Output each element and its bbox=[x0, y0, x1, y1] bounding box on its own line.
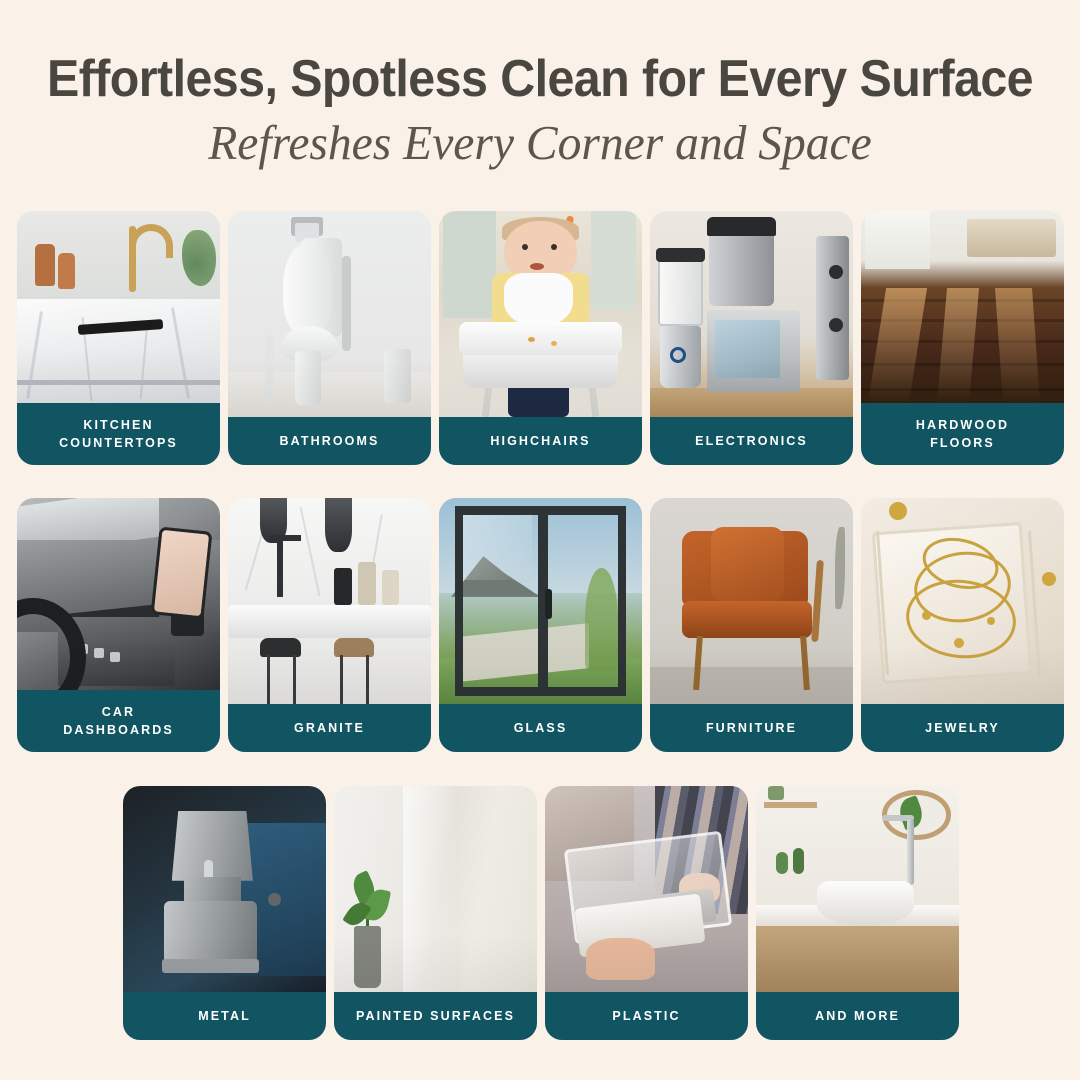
surface-card-hardwood-floors[interactable]: HARDWOOD FLOORS bbox=[861, 211, 1064, 465]
metal-pot-photo bbox=[123, 786, 326, 992]
baby-highchair-photo bbox=[439, 211, 642, 417]
card-label: PLASTIC bbox=[545, 992, 748, 1040]
painted-wall-photo bbox=[334, 786, 537, 992]
kitchen-countertop-photo bbox=[17, 211, 220, 403]
plastic-storage-bin-photo bbox=[545, 786, 748, 992]
card-label: BATHROOMS bbox=[228, 417, 431, 465]
surface-card-painted-surfaces[interactable]: PAINTED SURFACES bbox=[334, 786, 537, 1040]
card-label: CAR DASHBOARDS bbox=[17, 690, 220, 752]
leather-armchair-photo bbox=[650, 498, 853, 704]
surface-card-plastic[interactable]: PLASTIC bbox=[545, 786, 748, 1040]
card-label: PAINTED SURFACES bbox=[334, 992, 537, 1040]
surface-card-furniture[interactable]: FURNITURE bbox=[650, 498, 853, 752]
surface-card-jewelry[interactable]: JEWELRY bbox=[861, 498, 1064, 752]
surface-card-glass[interactable]: GLASS bbox=[439, 498, 642, 752]
surface-card-bathrooms[interactable]: BATHROOMS bbox=[228, 211, 431, 465]
granite-kitchen-photo bbox=[228, 498, 431, 704]
surface-card-electronics[interactable]: ELECTRONICS bbox=[650, 211, 853, 465]
glass-sliding-door-photo bbox=[439, 498, 642, 704]
card-label: JEWELRY bbox=[861, 704, 1064, 752]
surface-card-and-more[interactable]: AND MORE bbox=[756, 786, 959, 1040]
card-label: METAL bbox=[123, 992, 326, 1040]
card-row-1: KITCHEN COUNTERTOPS BATHROOMS bbox=[17, 211, 1064, 465]
card-label: FURNITURE bbox=[650, 704, 853, 752]
card-label: ELECTRONICS bbox=[650, 417, 853, 465]
bathroom-toilet-photo bbox=[228, 211, 431, 417]
bathroom-sink-photo bbox=[756, 786, 959, 992]
hardwood-floor-photo bbox=[861, 211, 1064, 403]
surface-card-car-dashboards[interactable]: CAR DASHBOARDS bbox=[17, 498, 220, 752]
car-dashboard-photo bbox=[17, 498, 220, 690]
surface-card-metal[interactable]: METAL bbox=[123, 786, 326, 1040]
card-label: HIGHCHAIRS bbox=[439, 417, 642, 465]
surface-card-granite[interactable]: GRANITE bbox=[228, 498, 431, 752]
card-row-3: METAL PAINTED SURFACES bbox=[123, 786, 959, 1040]
surface-card-highchairs[interactable]: HIGHCHAIRS bbox=[439, 211, 642, 465]
page-headline: Effortless, Spotless Clean for Every Sur… bbox=[38, 52, 1042, 106]
card-label: KITCHEN COUNTERTOPS bbox=[17, 403, 220, 465]
card-label: GRANITE bbox=[228, 704, 431, 752]
page-subheadline: Refreshes Every Corner and Space bbox=[16, 116, 1064, 170]
surface-card-kitchen-countertops[interactable]: KITCHEN COUNTERTOPS bbox=[17, 211, 220, 465]
card-label: GLASS bbox=[439, 704, 642, 752]
jewelry-tray-photo bbox=[861, 498, 1064, 704]
card-label: HARDWOOD FLOORS bbox=[861, 403, 1064, 465]
card-label: AND MORE bbox=[756, 992, 959, 1040]
kitchen-appliances-photo bbox=[650, 211, 853, 417]
header-section: Effortless, Spotless Clean for Every Sur… bbox=[0, 0, 1080, 170]
card-row-2: CAR DASHBOARDS GRANIT bbox=[17, 498, 1064, 752]
